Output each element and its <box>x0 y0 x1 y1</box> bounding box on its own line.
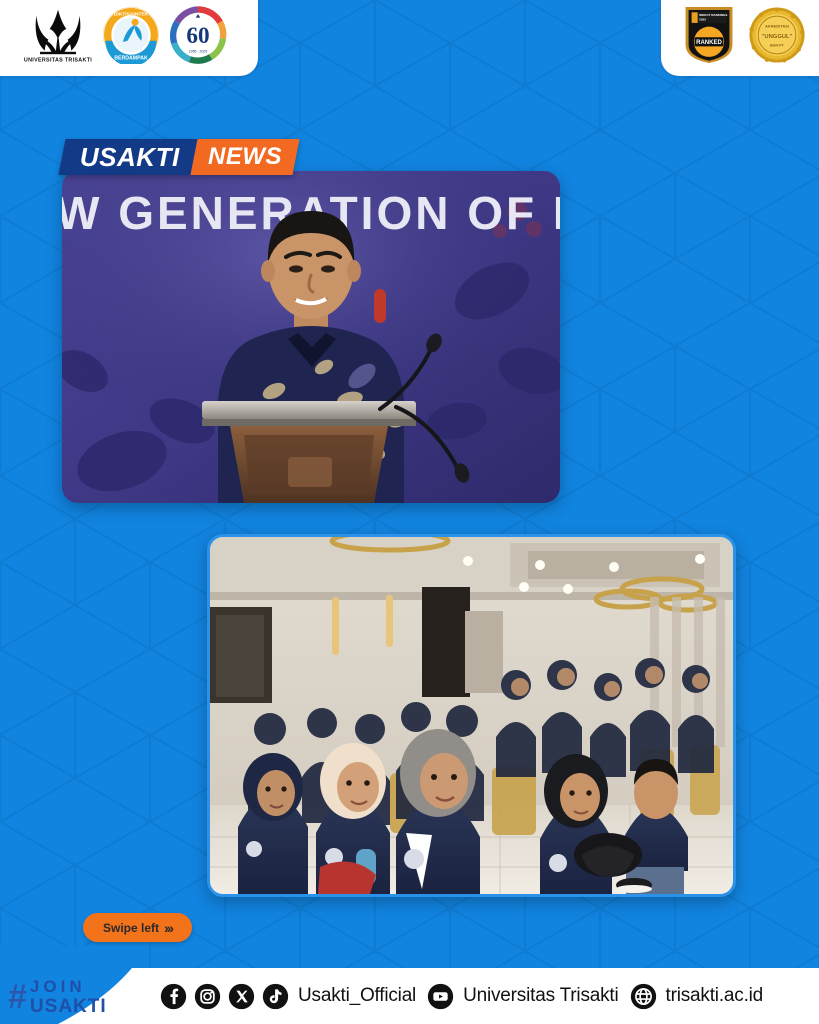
svg-text:IMPACT: IMPACT <box>699 13 710 17</box>
youtube-icon[interactable] <box>427 983 454 1010</box>
akreditasi-unggul-badge: AKREDITASI "UNGGUL" BAN-PT <box>748 6 806 64</box>
chevron-right-icon: ››› <box>164 920 172 936</box>
footer-social-row: Usakti_Official Universitas Trisakti tri… <box>160 983 767 1010</box>
anniversary-60-logo: 60 1965 - 2025 <box>168 6 228 64</box>
poster-canvas: UNIVERSITAS TRISAKTI DIKTISAINTEK BERDAM… <box>0 0 819 1024</box>
svg-text:UNIVERSITAS TRISAKTI: UNIVERSITAS TRISAKTI <box>24 57 92 63</box>
backpack <box>574 833 642 877</box>
the-impact-ranked-badge: IMPACT RANKINGS 2025 RANKED <box>682 4 736 66</box>
diktisaintek-logo: DIKTISAINTEK BERDAMPAK <box>102 6 160 64</box>
shoes <box>616 878 652 893</box>
svg-text:BERDAMPAK: BERDAMPAK <box>114 55 148 61</box>
svg-text:BAN-PT: BAN-PT <box>770 44 784 48</box>
banner-secondary-segment: NEWS <box>190 139 299 175</box>
footer-bar: Usakti_Official Universitas Trisakti tri… <box>0 968 819 1024</box>
globe-icon[interactable] <box>630 983 657 1010</box>
audience-photo <box>207 534 736 897</box>
banner-primary-segment: USAKTI <box>59 139 198 175</box>
svg-text:"UNGGUL": "UNGGUL" <box>762 34 793 40</box>
speaker-photo: W GENERATION OF EN <box>62 171 560 503</box>
banner-secondary-label: NEWS <box>208 143 282 171</box>
x-twitter-icon[interactable] <box>228 983 255 1010</box>
join-line-2: USAKTI <box>30 997 107 1016</box>
swipe-left-label: Swipe left <box>103 921 159 935</box>
join-line-1: JOIN <box>30 978 107 995</box>
svg-text:2025: 2025 <box>699 18 706 22</box>
banner-primary-label: USAKTI <box>80 142 180 173</box>
svg-text:RANKINGS: RANKINGS <box>711 13 727 17</box>
swipe-left-button[interactable]: Swipe left ››› <box>83 913 192 942</box>
svg-text:60: 60 <box>186 23 209 49</box>
join-usakti-badge: # JOIN USAKTI <box>8 978 107 1016</box>
tiktok-icon[interactable] <box>262 983 289 1010</box>
instagram-icon[interactable] <box>194 983 221 1010</box>
youtube-channel-label: Universitas Trisakti <box>463 985 618 1007</box>
header-badge-card: IMPACT RANKINGS 2025 RANKED AKREDITASI "… <box>661 0 819 76</box>
student-a <box>238 753 308 894</box>
hash-icon: # <box>8 980 27 1014</box>
svg-text:1965 - 2025: 1965 - 2025 <box>189 49 208 53</box>
svg-text:AKREDITASI: AKREDITASI <box>765 24 789 29</box>
website-label: trisakti.ac.id <box>666 985 764 1007</box>
svg-text:DIKTISAINTEK: DIKTISAINTEK <box>114 11 149 17</box>
facebook-icon[interactable] <box>160 983 187 1010</box>
svg-text:RANKED: RANKED <box>696 40 722 46</box>
social-handle-label: Usakti_Official <box>298 985 416 1007</box>
header-logo-card: UNIVERSITAS TRISAKTI DIKTISAINTEK BERDAM… <box>0 0 258 76</box>
usakti-news-banner: USAKTI NEWS <box>62 139 296 175</box>
trisakti-logo: UNIVERSITAS TRISAKTI <box>22 6 94 64</box>
